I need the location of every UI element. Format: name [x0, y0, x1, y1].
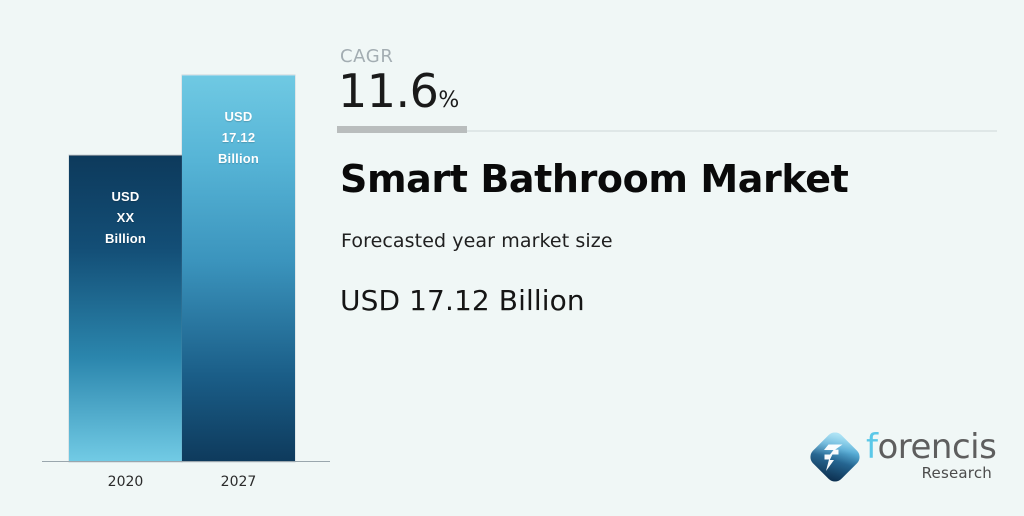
forecast-value: USD 17.12 Billion	[340, 284, 585, 317]
bar-2027-currency: USD	[182, 106, 295, 127]
divider-accent-segment	[337, 126, 467, 133]
bar-2020-magnitude: Billion	[69, 228, 182, 249]
forencis-diamond-icon	[804, 426, 866, 488]
cagr-number: 11.6	[338, 64, 438, 118]
x-axis-line	[42, 461, 330, 462]
section-divider	[337, 126, 997, 134]
brand-name-rest: orencis	[877, 427, 996, 467]
brand-initial: f	[866, 427, 877, 467]
bar-chart: USD XX Billion USD 17.12 Billion 2020 20…	[0, 0, 336, 516]
bar-2020-currency: USD	[69, 186, 182, 207]
brand-name: forencis	[866, 430, 996, 464]
bar-2020: USD XX Billion	[69, 155, 182, 462]
x-axis-tick-labels: 2020 2027	[42, 474, 330, 500]
forecast-subtitle: Forecasted year market size	[341, 230, 613, 252]
page-title: Smart Bathroom Market	[340, 157, 848, 201]
x-tick-2020: 2020	[69, 474, 182, 490]
bar-2027-magnitude: Billion	[182, 148, 295, 169]
chart-plot-area: USD XX Billion USD 17.12 Billion	[42, 60, 330, 462]
x-tick-2027: 2027	[182, 474, 295, 490]
bar-2020-value: XX	[69, 207, 182, 228]
cagr-value: 11.6%	[338, 68, 459, 114]
bar-2027-value: 17.12	[182, 127, 295, 148]
cagr-percent-sign: %	[438, 88, 459, 113]
bar-2027-label: USD 17.12 Billion	[182, 106, 295, 169]
brand-wordmark: forencis Research	[866, 430, 994, 488]
market-infographic: USD XX Billion USD 17.12 Billion 2020 20…	[0, 0, 1024, 516]
brand-subtitle: Research	[922, 464, 992, 482]
bar-2020-label: USD XX Billion	[69, 186, 182, 249]
bar-2027: USD 17.12 Billion	[182, 75, 295, 462]
brand-logo: forencis Research	[804, 424, 994, 496]
